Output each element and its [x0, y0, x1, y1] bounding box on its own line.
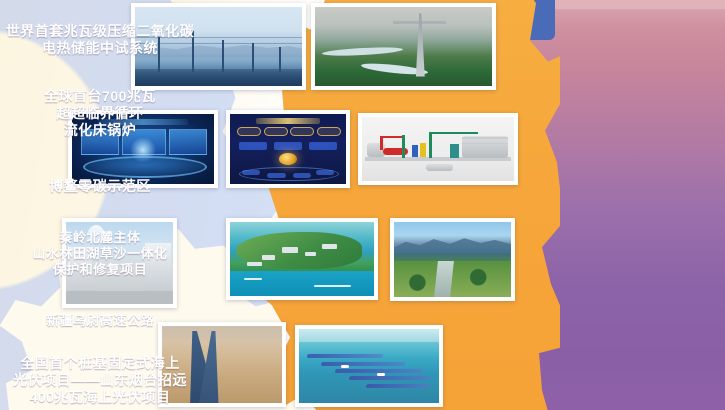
caption-line: 光伏项目——山东烟台招远 — [0, 372, 200, 389]
caption-line: 秦岭北麓主体 — [0, 230, 200, 246]
photo-qinling-mountains — [394, 222, 511, 297]
caption-line: 流化床锅炉 — [0, 122, 200, 139]
caption-700mw-boiler: 全球首台700兆瓦超超临界循环流化床锅炉 — [0, 88, 200, 139]
photo-boao-aerial — [230, 222, 374, 296]
photo-card-boao-aerial — [226, 218, 378, 300]
caption-line: 保护和修复项目 — [0, 262, 200, 278]
caption-line: 全国首个桩基固定式海上 — [0, 355, 200, 372]
caption-co2-thermal-storage: 世界首套兆瓦级压缩二氧化碳电热储能中试系统 — [0, 23, 200, 57]
panel-top-strip — [525, 0, 725, 9]
caption-line: 世界首套兆瓦级压缩二氧化碳 — [0, 23, 200, 40]
photo-transmission-tower-green-valley — [315, 7, 492, 86]
photo-card-qinling-mountains — [390, 218, 515, 301]
caption-line: 山水林田湖草沙一体化 — [0, 246, 200, 262]
photo-card-industrial-equipment-3d — [358, 113, 518, 185]
caption-line: 全球首台700兆瓦 — [0, 88, 200, 105]
caption-line: 博鳌零碳示范区 — [0, 178, 200, 195]
photo-industrial-equipment-3d — [362, 117, 514, 181]
photo-offshore-solar — [299, 329, 439, 403]
caption-line: 电热储能中试系统 — [0, 40, 200, 57]
caption-boao-zero-carbon: 博鳌零碳示范区 — [0, 178, 200, 195]
caption-qinling-restoration: 秦岭北麓主体山水林田湖草沙一体化保护和修复项目 — [0, 230, 200, 278]
photo-digital-dashboard — [230, 114, 346, 184]
caption-offshore-pv: 全国首个桩基固定式海上光伏项目——山东烟台招远400兆瓦海上光伏项目 — [0, 355, 200, 406]
poster-canvas: 世界首套兆瓦级压缩二氧化碳电热储能中试系统 全球首台700兆瓦超超临界循环流化床… — [0, 0, 725, 410]
photo-card-transmission-tower-green-valley — [311, 3, 496, 90]
caption-line: 新疆乌尉高速公路 — [0, 313, 200, 329]
photo-card-digital-dashboard — [226, 110, 350, 188]
caption-line: 超超临界循环 — [0, 105, 200, 122]
caption-line: 400兆瓦海上光伏项目 — [0, 389, 200, 406]
caption-xinjiang-highway: 新疆乌尉高速公路 — [0, 313, 200, 329]
photo-card-offshore-solar — [295, 325, 443, 407]
